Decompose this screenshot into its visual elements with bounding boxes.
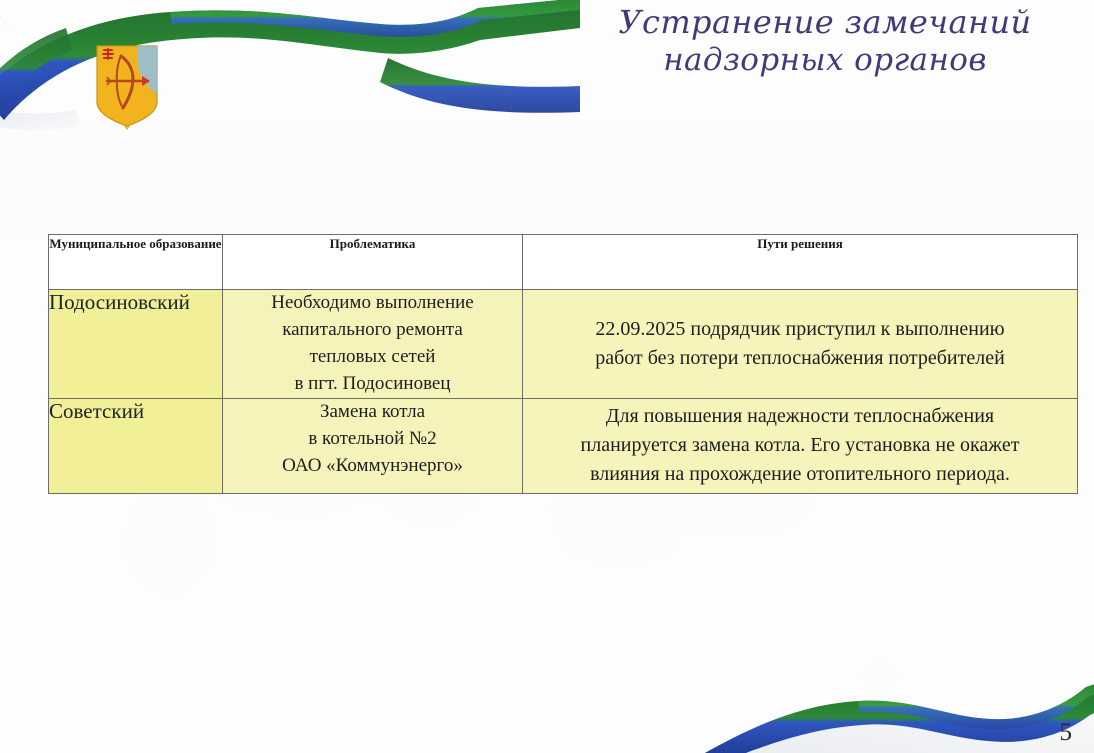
problem-line: в пгт. Подосиновец [223,371,522,398]
cell-problem: Замена котла в котельной №2 ОАО «Коммунэ… [223,398,523,493]
table-row: Советский Замена котла в котельной №2 ОА… [49,398,1078,493]
issues-table: Муниципальное образование Проблематика П… [48,234,1078,494]
ribbon-top-decoration [0,0,580,144]
solution-line: 22.09.2025 подрядчик приступил к выполне… [523,315,1077,344]
problem-line: ОАО «Коммунэнерго» [223,453,522,480]
column-header-solution: Пути решения [523,235,1078,290]
cell-municipality: Советский [49,398,223,493]
solution-line: планируется замена котла. Его установка … [523,431,1077,460]
cell-problem: Необходимо выполнение капитального ремон… [223,290,523,399]
problem-line: капитального ремонта [223,317,522,344]
solution-line: Для повышения надежности теплоснабжения [523,402,1077,431]
problem-line: в котельной №2 [223,426,522,453]
column-header-municipality: Муниципальное образование [49,235,223,290]
cell-solution: Для повышения надежности теплоснабжения … [523,398,1078,493]
slide-title-line-1: Устранение замечаний [565,4,1085,42]
page-number: 5 [1060,719,1073,747]
table-row: Подосиновский Необходимо выполнение капи… [49,290,1078,399]
slide-title-line-2: надзорных органов [565,42,1085,79]
slide-title: Устранение замечаний надзорных органов [565,4,1085,78]
solution-line: влияния на прохождение отопительного пер… [523,460,1077,489]
ribbon-bottom-decoration [674,639,1094,753]
solution-line: работ без потери теплоснабжения потребит… [523,344,1077,373]
issues-table-wrapper: Муниципальное образование Проблематика П… [48,234,1077,494]
coat-of-arms-kirov-icon [94,44,160,130]
column-header-problem: Проблематика [223,235,523,290]
cell-solution: 22.09.2025 подрядчик приступил к выполне… [523,290,1078,399]
presentation-slide: Устранение замечаний надзорных органов М… [0,0,1094,753]
problem-line: Замена котла [223,399,522,426]
cell-municipality: Подосиновский [49,290,223,399]
table-header-row: Муниципальное образование Проблематика П… [49,235,1078,290]
problem-line: Необходимо выполнение [223,290,522,317]
problem-line: тепловых сетей [223,344,522,371]
